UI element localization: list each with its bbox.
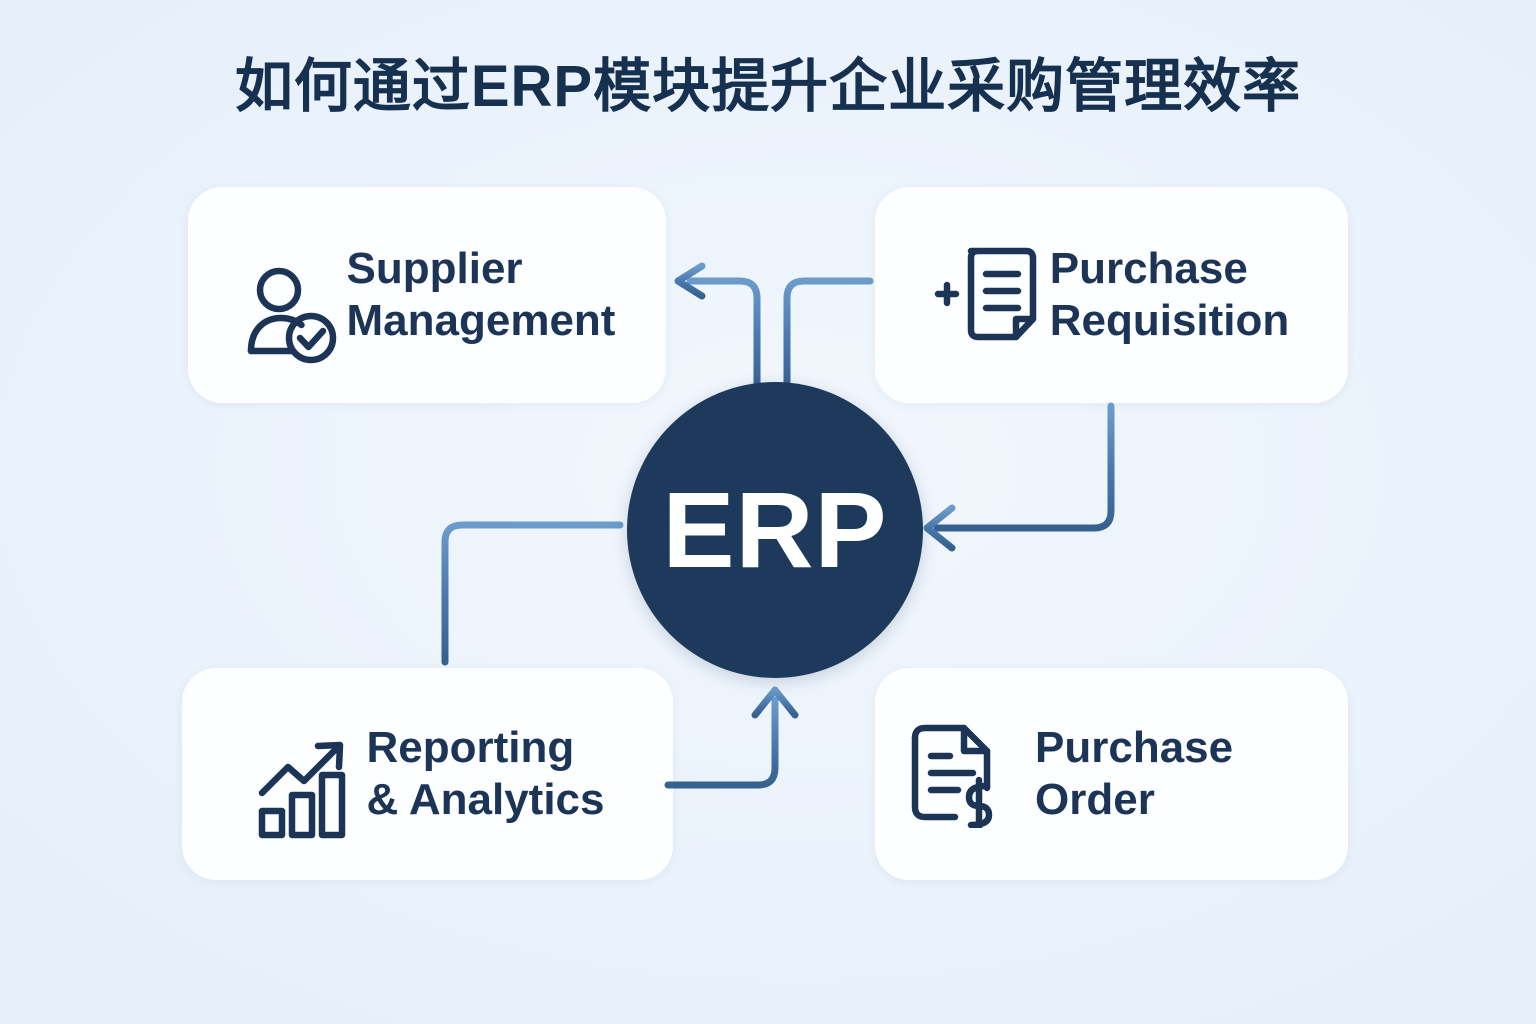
connector-erp-to-supplier	[678, 266, 757, 390]
card-reporting-analytics[interactable]: Reporting & Analytics	[182, 668, 673, 880]
erp-core-node[interactable]: ERP	[627, 382, 923, 678]
card-label-purchase-order: Purchase Order	[1035, 722, 1233, 826]
document-dollar-icon	[901, 718, 1005, 833]
card-supplier-management[interactable]: Supplier Management	[188, 187, 666, 403]
card-purchase-requisition[interactable]: Purchase Requisition	[875, 187, 1348, 403]
connector-requisition-top-to-erp	[787, 281, 870, 390]
connector-reporting-to-erp	[668, 690, 795, 785]
card-label-purchase-requisition: Purchase Requisition	[1050, 243, 1290, 347]
user-check-icon	[241, 262, 345, 371]
bar-chart-trend-icon	[256, 737, 356, 846]
card-label-reporting-analytics: Reporting & Analytics	[366, 722, 604, 826]
erp-core-label: ERP	[662, 476, 887, 584]
diagram-canvas: 如何通过ERP模块提升企业采购管理效率	[0, 0, 1536, 1024]
card-purchase-order[interactable]: Purchase Order	[875, 668, 1348, 880]
connector-erp-to-reporting	[445, 525, 620, 662]
document-plus-icon	[930, 241, 1042, 352]
connector-requisition-to-erp	[927, 406, 1111, 548]
page-title: 如何通过ERP模块提升企业采购管理效率	[0, 52, 1536, 122]
card-label-supplier-management: Supplier Management	[347, 243, 616, 347]
